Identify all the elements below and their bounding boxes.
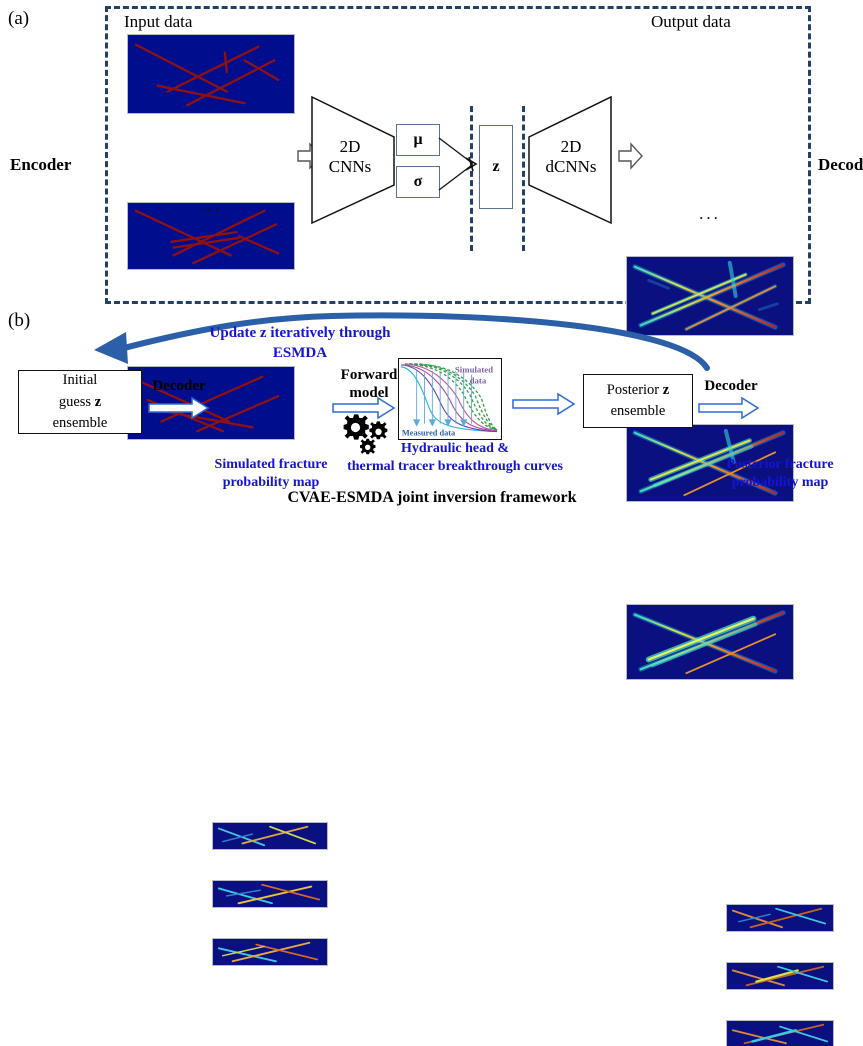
decoder-block-arrow-1 [148,396,210,420]
initial-guess-z: z [95,394,101,410]
posterior-probability-map-3 [726,1020,834,1046]
encoder-network-line1: 2D [310,137,390,157]
decoder-arrow-label-1: Decoder [146,378,212,395]
posterior-line1: Posterior z [607,380,669,401]
sigma-box: σ [396,166,440,198]
simulated-map-caption: Simulated fracture probability map [196,456,346,491]
sim-heatmap-2 [213,881,327,907]
decoder-network-line1: 2D [531,137,611,157]
posterior-caption-line2: probability map [705,474,855,492]
panel-a-letter: (a) [8,8,29,30]
curves-caption: Hydraulic head & thermal tracer breakthr… [330,440,580,475]
reparameterization-connector [438,130,480,198]
output-data-title: Output data [651,12,731,32]
output-ellipsis: ... [626,204,794,224]
update-loop-line1: Update z iteratively through [150,324,450,344]
panel-b-letter: (b) [8,310,30,332]
post-heatmap-3 [727,1021,833,1046]
probability-heatmap-3 [627,605,793,679]
sim-heatmap-3 [213,939,327,965]
curves-caption-line2: thermal tracer breakthrough curves [330,458,580,476]
encoder-network-line2: CNNs [310,157,390,177]
initial-guess-line2-text: guess [59,394,95,410]
breakthrough-curves-plot: Simulated data Measured data [398,358,502,440]
posterior-probability-map-1 [726,904,834,932]
post-heatmap-1 [727,905,833,931]
posterior-probability-map-2 [726,962,834,990]
decoder-network-label: 2D dCNNs [531,137,611,176]
curves-caption-line1: Hydraulic head & [330,440,580,458]
decoder-label: Decoder [818,155,863,175]
posterior-z-box: Posterior z ensemble [583,374,693,428]
posterior-z: z [663,382,669,398]
posterior-map-caption: Posterior fracture probability map [705,456,855,491]
framework-caption: CVAE-ESMDA joint inversion framework [232,489,632,507]
initial-guess-box: Initial guess z ensemble [18,370,142,434]
encoder-network-label: 2D CNNs [310,137,390,176]
initial-guess-line1: Initial [63,370,98,391]
measured-data-label: Measured data [402,428,456,437]
output-probability-map-3 [626,604,794,680]
encoder-label: Encoder [10,155,71,175]
input-fracture-map-1 [127,34,295,114]
decoder-block-arrow-2 [698,396,760,420]
input-data-title: Input data [124,12,192,32]
forward-model-line1: Forward [330,366,408,384]
mu-label: μ [413,131,422,149]
initial-guess-line3: ensemble [53,413,108,434]
posterior-line2: ensemble [611,401,666,422]
posterior-caption-line1: Posterior fracture [705,456,855,474]
simulated-data-label-line1: Simulated [455,365,493,375]
mu-box: μ [396,124,440,156]
simulated-probability-map-3 [212,938,328,966]
decoder-arrow-label-2: Decoder [698,378,764,395]
simulated-data-label-line2: data [470,376,487,386]
initial-guess-line2: guess z [59,392,101,413]
posterior-line1-text: Posterior [607,382,663,398]
latent-z-label: z [492,158,499,176]
latent-divider-right [522,106,525,251]
simulated-probability-map-1 [212,822,328,850]
curves-svg: Simulated data Measured data [399,359,501,439]
simulated-caption-line1: Simulated fracture [196,456,346,474]
sigma-label: σ [414,173,423,191]
simulated-probability-map-2 [212,880,328,908]
post-heatmap-2 [727,963,833,989]
decoder-network-line2: dCNNs [531,157,611,177]
curves-to-posterior-arrow [512,392,576,416]
fracture-lines-1 [128,35,294,113]
sim-heatmap-1 [213,823,327,849]
decoder-to-output-arrow [618,142,644,170]
latent-z-box: z [479,125,513,209]
input-ellipsis: ... [127,196,295,216]
